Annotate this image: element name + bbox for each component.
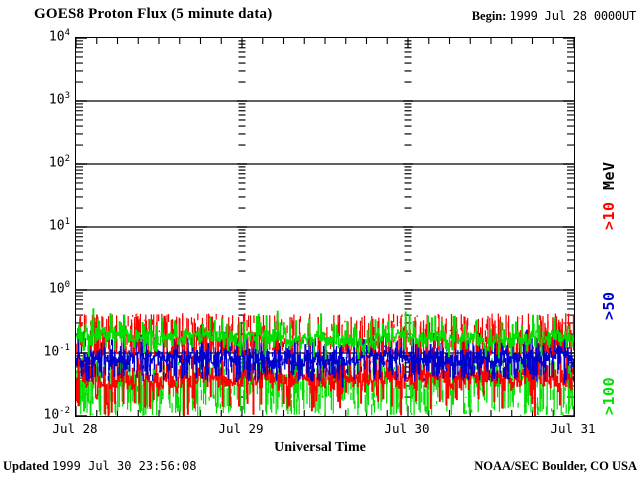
- begin-label: Begin:: [472, 9, 507, 23]
- y-tick-labels: 10410310210110010-110-2: [22, 0, 70, 480]
- footer-source: NOAA/SEC Boulder, CO USA: [474, 459, 637, 474]
- chart-page: GOES8 Proton Flux (5 minute data) Begin:…: [0, 0, 640, 480]
- x-tick-label: Jul 31: [550, 421, 595, 436]
- y-tick-label: 102: [30, 154, 70, 170]
- x-tick-label: Jul 28: [52, 421, 97, 436]
- y-tick-label: 10-1: [30, 343, 70, 359]
- updated-value: 1999 Jul 30 23:56:08: [52, 459, 197, 473]
- updated-label: Updated: [3, 459, 49, 473]
- y-tick-label: 100: [30, 280, 70, 296]
- footer-updated: Updated 1999 Jul 30 23:56:08: [3, 459, 196, 474]
- begin-time-block: Begin: 1999 Jul 28 0000UT: [472, 9, 636, 24]
- y-tick-label: 101: [30, 217, 70, 233]
- plot-area: [75, 37, 575, 417]
- x-tick-label: Jul 30: [384, 421, 429, 436]
- legend-unit: MeV: [600, 161, 618, 190]
- x-tick-label: Jul 29: [218, 421, 263, 436]
- begin-value: 1999 Jul 28 0000UT: [510, 9, 636, 23]
- legend-item-gt10: >10: [600, 201, 618, 230]
- legend-item-gt100: >100: [600, 377, 618, 415]
- x-axis-title: Universal Time: [0, 440, 640, 456]
- y-tick-label: 103: [30, 91, 70, 107]
- legend-item-gt50: >50: [600, 291, 618, 320]
- y-tick-label: 10-2: [30, 406, 70, 422]
- y-tick-label: 104: [30, 28, 70, 44]
- flux-plot: [76, 38, 574, 416]
